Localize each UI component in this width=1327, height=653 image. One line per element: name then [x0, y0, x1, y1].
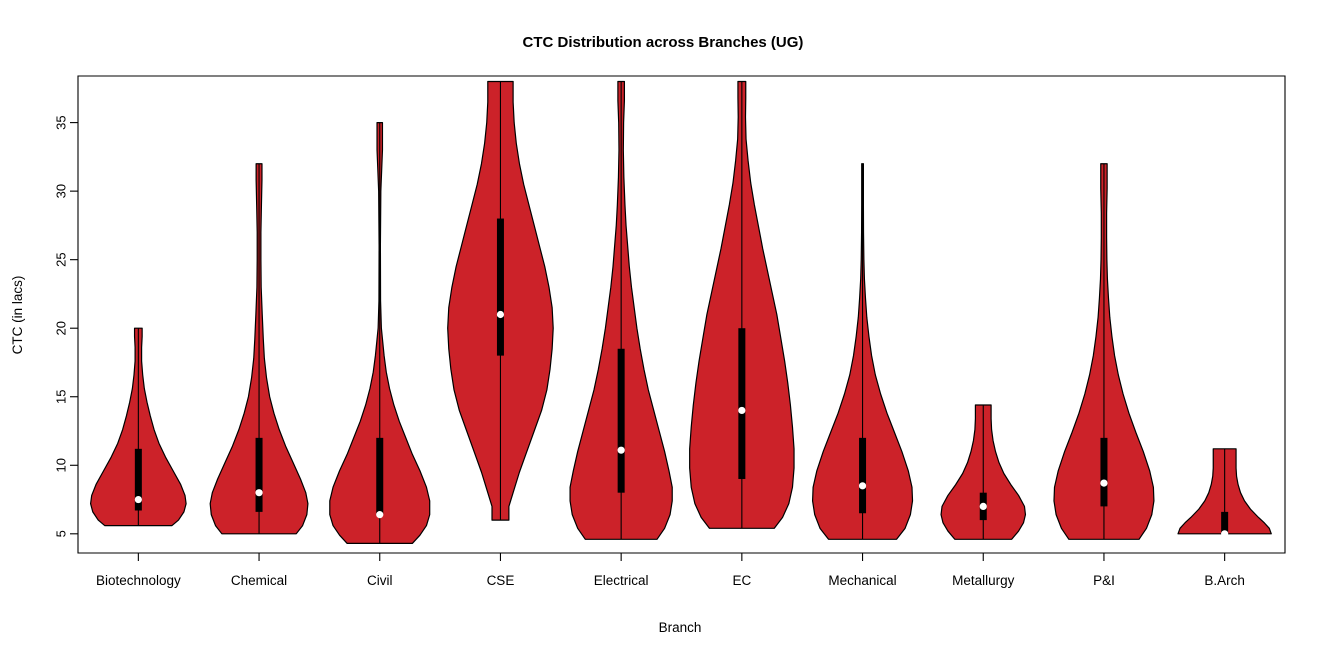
iqr-box [376, 438, 383, 515]
median-marker [1100, 479, 1107, 486]
y-axis-tick-label: 10 [53, 458, 68, 472]
y-axis-tick-label: 15 [53, 390, 68, 404]
iqr-box [1100, 438, 1107, 507]
x-axis-title: Branch [659, 620, 702, 635]
chart-title: CTC Distribution across Branches (UG) [523, 34, 804, 51]
iqr-box [738, 328, 745, 479]
x-axis-category-label-chemical: Chemical [231, 573, 287, 588]
y-axis-tick-label: 35 [53, 115, 68, 129]
iqr-box [618, 349, 625, 493]
iqr-box [859, 438, 866, 513]
chart-canvas: CTC Distribution across Branches (UG) CT… [0, 0, 1327, 653]
x-axis-category-label-civil: Civil [367, 573, 393, 588]
median-marker [255, 489, 262, 496]
median-marker [135, 496, 142, 503]
x-axis-category-label-b-arch: B.Arch [1204, 573, 1245, 588]
violin-plot-figure: CTC Distribution across Branches (UG) CT… [0, 0, 1327, 653]
x-axis-category-label-biotechnology: Biotechnology [96, 573, 181, 588]
median-marker [497, 311, 504, 318]
median-marker [618, 447, 625, 454]
median-marker [859, 482, 866, 489]
iqr-box [256, 438, 263, 512]
x-axis-category-label-electrical: Electrical [594, 573, 649, 588]
x-axis-category-label-p-i: P&I [1093, 573, 1115, 588]
x-axis-category-label-ec: EC [732, 573, 751, 588]
y-axis-tick-label: 5 [53, 530, 68, 537]
x-axis-category-label-mechanical: Mechanical [828, 573, 896, 588]
y-axis-tick-label: 20 [53, 321, 68, 335]
y-axis-tick-label: 25 [53, 252, 68, 266]
y-axis-tick-label: 30 [53, 184, 68, 198]
median-marker [376, 511, 383, 518]
x-axis-category-label-cse: CSE [487, 573, 515, 588]
median-marker [738, 407, 745, 414]
iqr-box [497, 219, 504, 356]
chart-background [0, 0, 1327, 653]
median-marker [980, 503, 987, 510]
x-axis-category-label-metallurgy: Metallurgy [952, 573, 1015, 588]
median-marker [1221, 530, 1228, 537]
y-axis-title: CTC (in lacs) [10, 276, 25, 355]
